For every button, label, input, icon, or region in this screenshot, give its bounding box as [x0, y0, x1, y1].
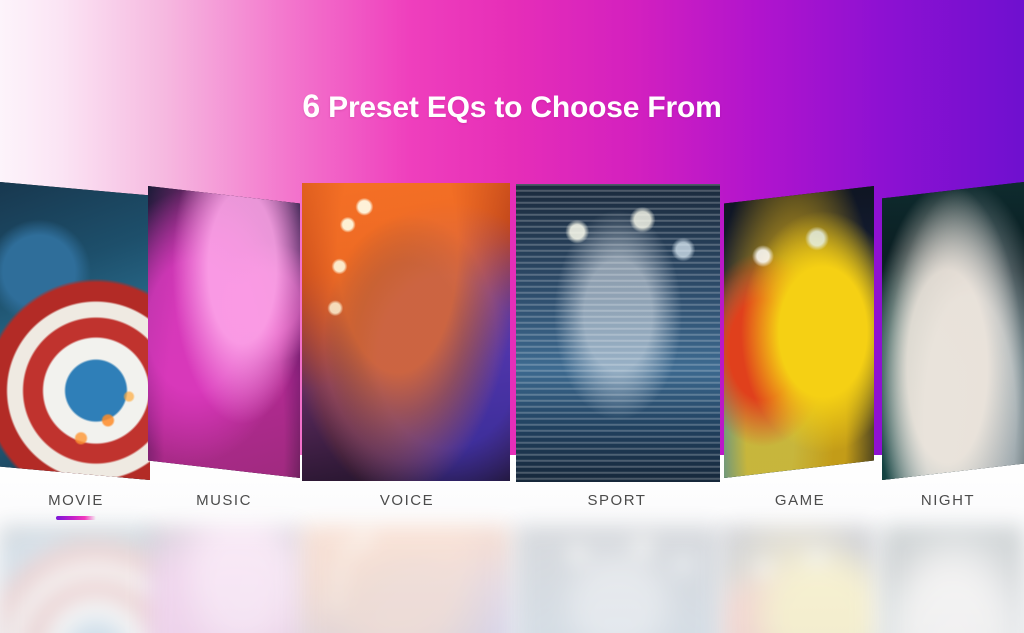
active-indicator	[56, 516, 96, 520]
preset-carousel	[0, 0, 1024, 633]
preset-label-game[interactable]: GAME	[742, 492, 858, 509]
preset-card-sport[interactable]	[516, 184, 720, 482]
athlete-jumping-hurdle-in-stadium-image	[516, 184, 720, 482]
promo-banner: 6 Preset EQs to Choose From MOVIE MUSIC	[0, 0, 1024, 633]
preset-label-sport[interactable]: SPORT	[559, 492, 675, 509]
preset-card-movie[interactable]	[0, 182, 150, 480]
superhero-with-shield-movie-scene-image	[0, 182, 150, 480]
preset-card-game[interactable]	[724, 186, 874, 478]
preset-card-voice[interactable]	[302, 183, 510, 481]
preset-label-movie-text: MOVIE	[18, 492, 134, 509]
preset-label-night[interactable]: NIGHT	[890, 492, 1006, 509]
preset-label-music-text: MUSIC	[166, 492, 282, 509]
preset-label-voice[interactable]: VOICE	[349, 492, 465, 509]
preset-label-night-text: NIGHT	[890, 492, 1006, 509]
preset-label-movie[interactable]: MOVIE	[18, 492, 134, 520]
preset-label-music[interactable]: MUSIC	[166, 492, 282, 509]
preset-label-game-text: GAME	[742, 492, 858, 509]
preset-label-sport-text: SPORT	[559, 492, 675, 509]
dj-with-headphones-at-mixer-image	[148, 186, 300, 478]
preset-card-night[interactable]	[882, 182, 1024, 480]
racing-cars-on-track-image	[724, 186, 874, 478]
preset-labels: MOVIE MUSIC VOICE SPORT GAME NIGHT	[0, 492, 1024, 532]
preset-card-music[interactable]	[148, 186, 300, 478]
preset-label-voice-text: VOICE	[349, 492, 465, 509]
singer-with-microphone-on-stage-image	[302, 183, 510, 481]
man-lying-awake-in-bed-image	[882, 182, 1024, 480]
